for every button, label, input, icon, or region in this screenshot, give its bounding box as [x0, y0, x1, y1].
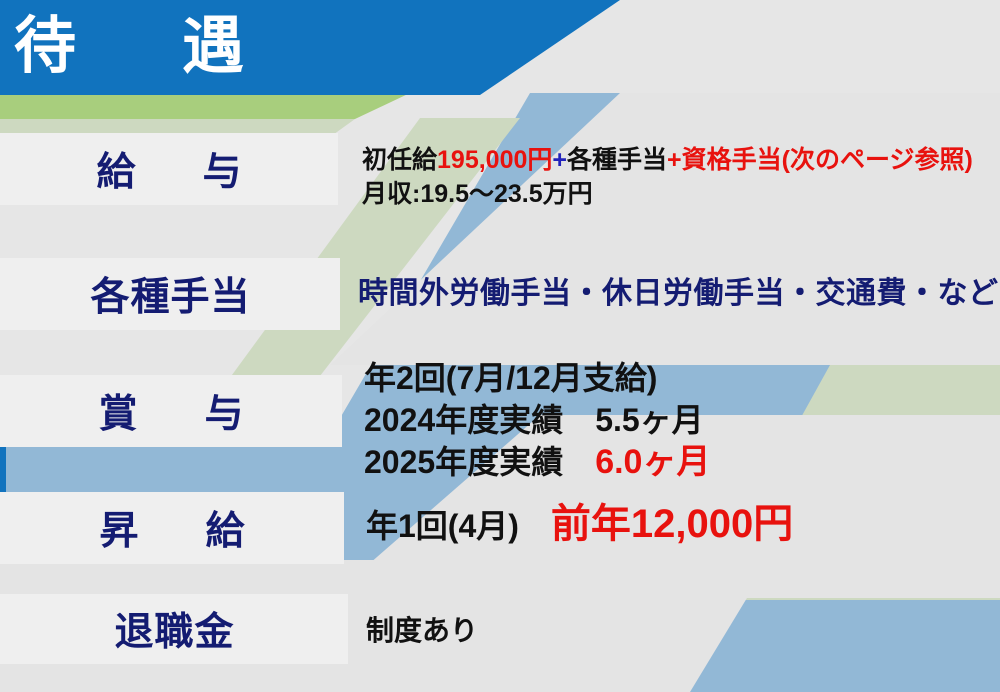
value-line: 2024年度実績 5.5ヶ月 [364, 399, 710, 441]
value-line: 制度あり [366, 612, 478, 650]
row-label-bar: 賞 与 [0, 375, 342, 447]
row-label: 各種手当 [89, 266, 250, 322]
page-title: 待 遇 [14, 6, 266, 88]
row-label-bar: 各種手当 [0, 258, 340, 330]
row-label: 昇 給 [85, 500, 258, 556]
row-value: 初任給195,000円+各種手当+資格手当(次のページ参照) 月収:19.5〜2… [362, 143, 973, 211]
value-segment-highlight: 前年12,000円 [551, 502, 793, 546]
value-segment: 初任給 [362, 146, 437, 174]
row-value: 年1回(4月) 前年12,000円 [366, 503, 793, 547]
row-label: 給 与 [82, 141, 255, 197]
row-label: 退職金 [113, 601, 234, 657]
value-segment: 制度あり [366, 615, 478, 646]
value-segment: 年2回(7月/12月支給) [364, 360, 657, 396]
value-segment: 2025年度実績 [364, 444, 595, 480]
value-segment: 2024年度実績 5.5ヶ月 [364, 402, 704, 438]
value-line: 時間外労働手当・休日労働手当・交通費・など [358, 274, 999, 314]
row-value: 制度あり [366, 612, 478, 650]
row-label-bar: 昇 給 [0, 492, 344, 564]
row-label-bar: 退職金 [0, 594, 348, 664]
value-line: 2025年度実績 6.0ヶ月 [364, 441, 710, 483]
row-value: 年2回(7月/12月支給) 2024年度実績 5.5ヶ月 2025年度実績 6.… [364, 357, 710, 483]
row-label: 賞 与 [84, 383, 257, 439]
value-line: 月収:19.5〜23.5万円 [362, 177, 973, 211]
value-line: 年2回(7月/12月支給) [364, 357, 710, 399]
row-label-bar: 給 与 [0, 133, 338, 205]
value-segment: 各種手当 [567, 146, 667, 174]
value-segment-plus: + [552, 146, 567, 174]
value-segment: 時間外労働手当・休日労働手当・交通費・など [358, 277, 999, 310]
value-segment-note: +資格手当(次のページ参照) [667, 146, 973, 174]
value-segment-highlight: 6.0ヶ月 [595, 443, 710, 481]
value-line: 年1回(4月) 前年12,000円 [366, 503, 793, 547]
value-segment: 年1回(4月) [366, 508, 551, 544]
row-value: 時間外労働手当・休日労働手当・交通費・など [358, 274, 999, 314]
value-segment: 月収:19.5〜23.5万円 [362, 180, 593, 208]
slide-canvas: 待 遇 給 与 初任給195,000円+各種手当+資格手当(次のページ参照) 月… [0, 0, 1000, 692]
value-segment-amount: 195,000円 [437, 146, 552, 174]
value-line: 初任給195,000円+各種手当+資格手当(次のページ参照) [362, 143, 973, 177]
